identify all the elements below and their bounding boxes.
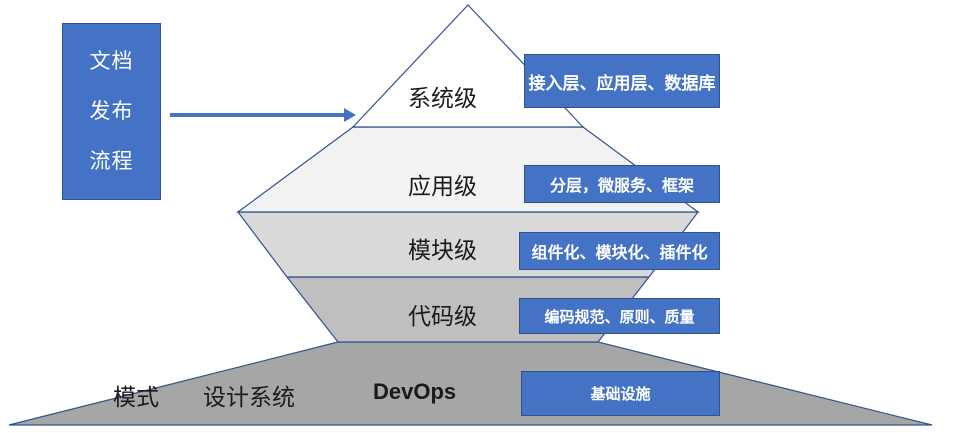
tier-label-code: 代码级 (408, 297, 477, 331)
diagram-canvas: 文档 发布 流程 系统级 应用级 模块级 代码级 接入层、应用层、数据库 分层，… (0, 0, 954, 433)
callout-infrastructure[interactable]: 基础设施 (521, 371, 720, 416)
callout-code-level[interactable]: 编码规范、原则、质量 (519, 298, 720, 334)
tier-label-module: 模块级 (408, 231, 477, 265)
callout-application-level[interactable]: 分层，微服务、框架 (524, 165, 720, 203)
tier-label-app: 应用级 (408, 167, 477, 201)
title-line-2: 发布 (90, 100, 134, 123)
document-publish-flow-box[interactable]: 文档 发布 流程 (62, 23, 161, 200)
bottom-label-design-system: 设计系统 (203, 378, 295, 412)
title-line-1: 文档 (90, 50, 134, 73)
title-line-3: 流程 (90, 150, 134, 173)
callout-module-level[interactable]: 组件化、模块化、插件化 (519, 232, 720, 270)
callout-system-level[interactable]: 接入层、应用层、数据库 (524, 54, 720, 108)
tier-label-system: 系统级 (408, 79, 477, 113)
arrow-right (170, 108, 356, 122)
bottom-label-devops: DevOps (373, 379, 456, 405)
bottom-label-pattern: 模式 (113, 378, 159, 412)
